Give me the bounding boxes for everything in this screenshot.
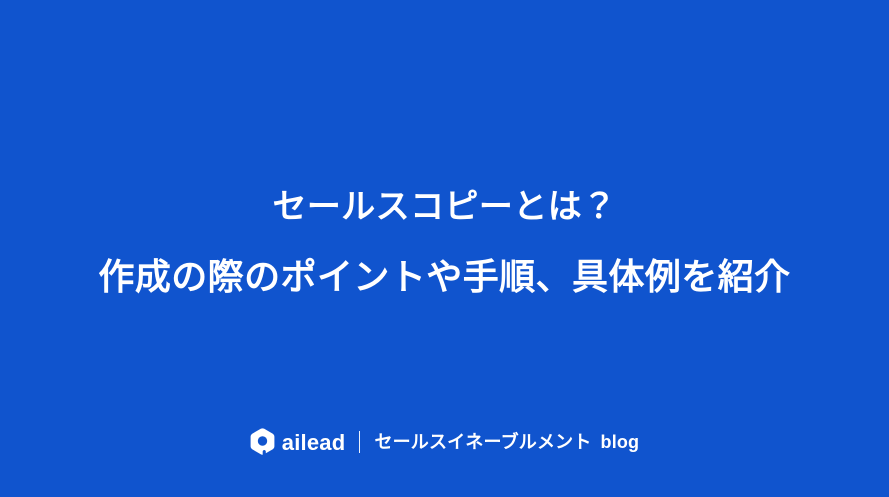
blog-title-card: セールスコピーとは？ 作成の際のポイントや手順、具体例を紹介 ailead セー… [0,0,889,497]
brand-lockup: ailead セールスイネーブルメント blog [0,428,889,455]
headline-line-1: セールスコピーとは？ [24,180,865,234]
brand-tagline: セールスイネーブルメント blog [374,433,639,451]
brand-logo: ailead [250,428,346,455]
brand-tagline-text: セールスイネーブルメント [374,433,591,451]
headline-line-2: 作成の際のポイントや手順、具体例を紹介 [24,250,865,304]
brand-wordmark: ailead [282,432,346,454]
page-title: セールスコピーとは？ 作成の際のポイントや手順、具体例を紹介 [0,180,889,304]
ailead-hexagon-logo-icon [250,428,275,455]
brand-tagline-blog: blog [601,433,640,451]
brand-divider [359,431,360,453]
